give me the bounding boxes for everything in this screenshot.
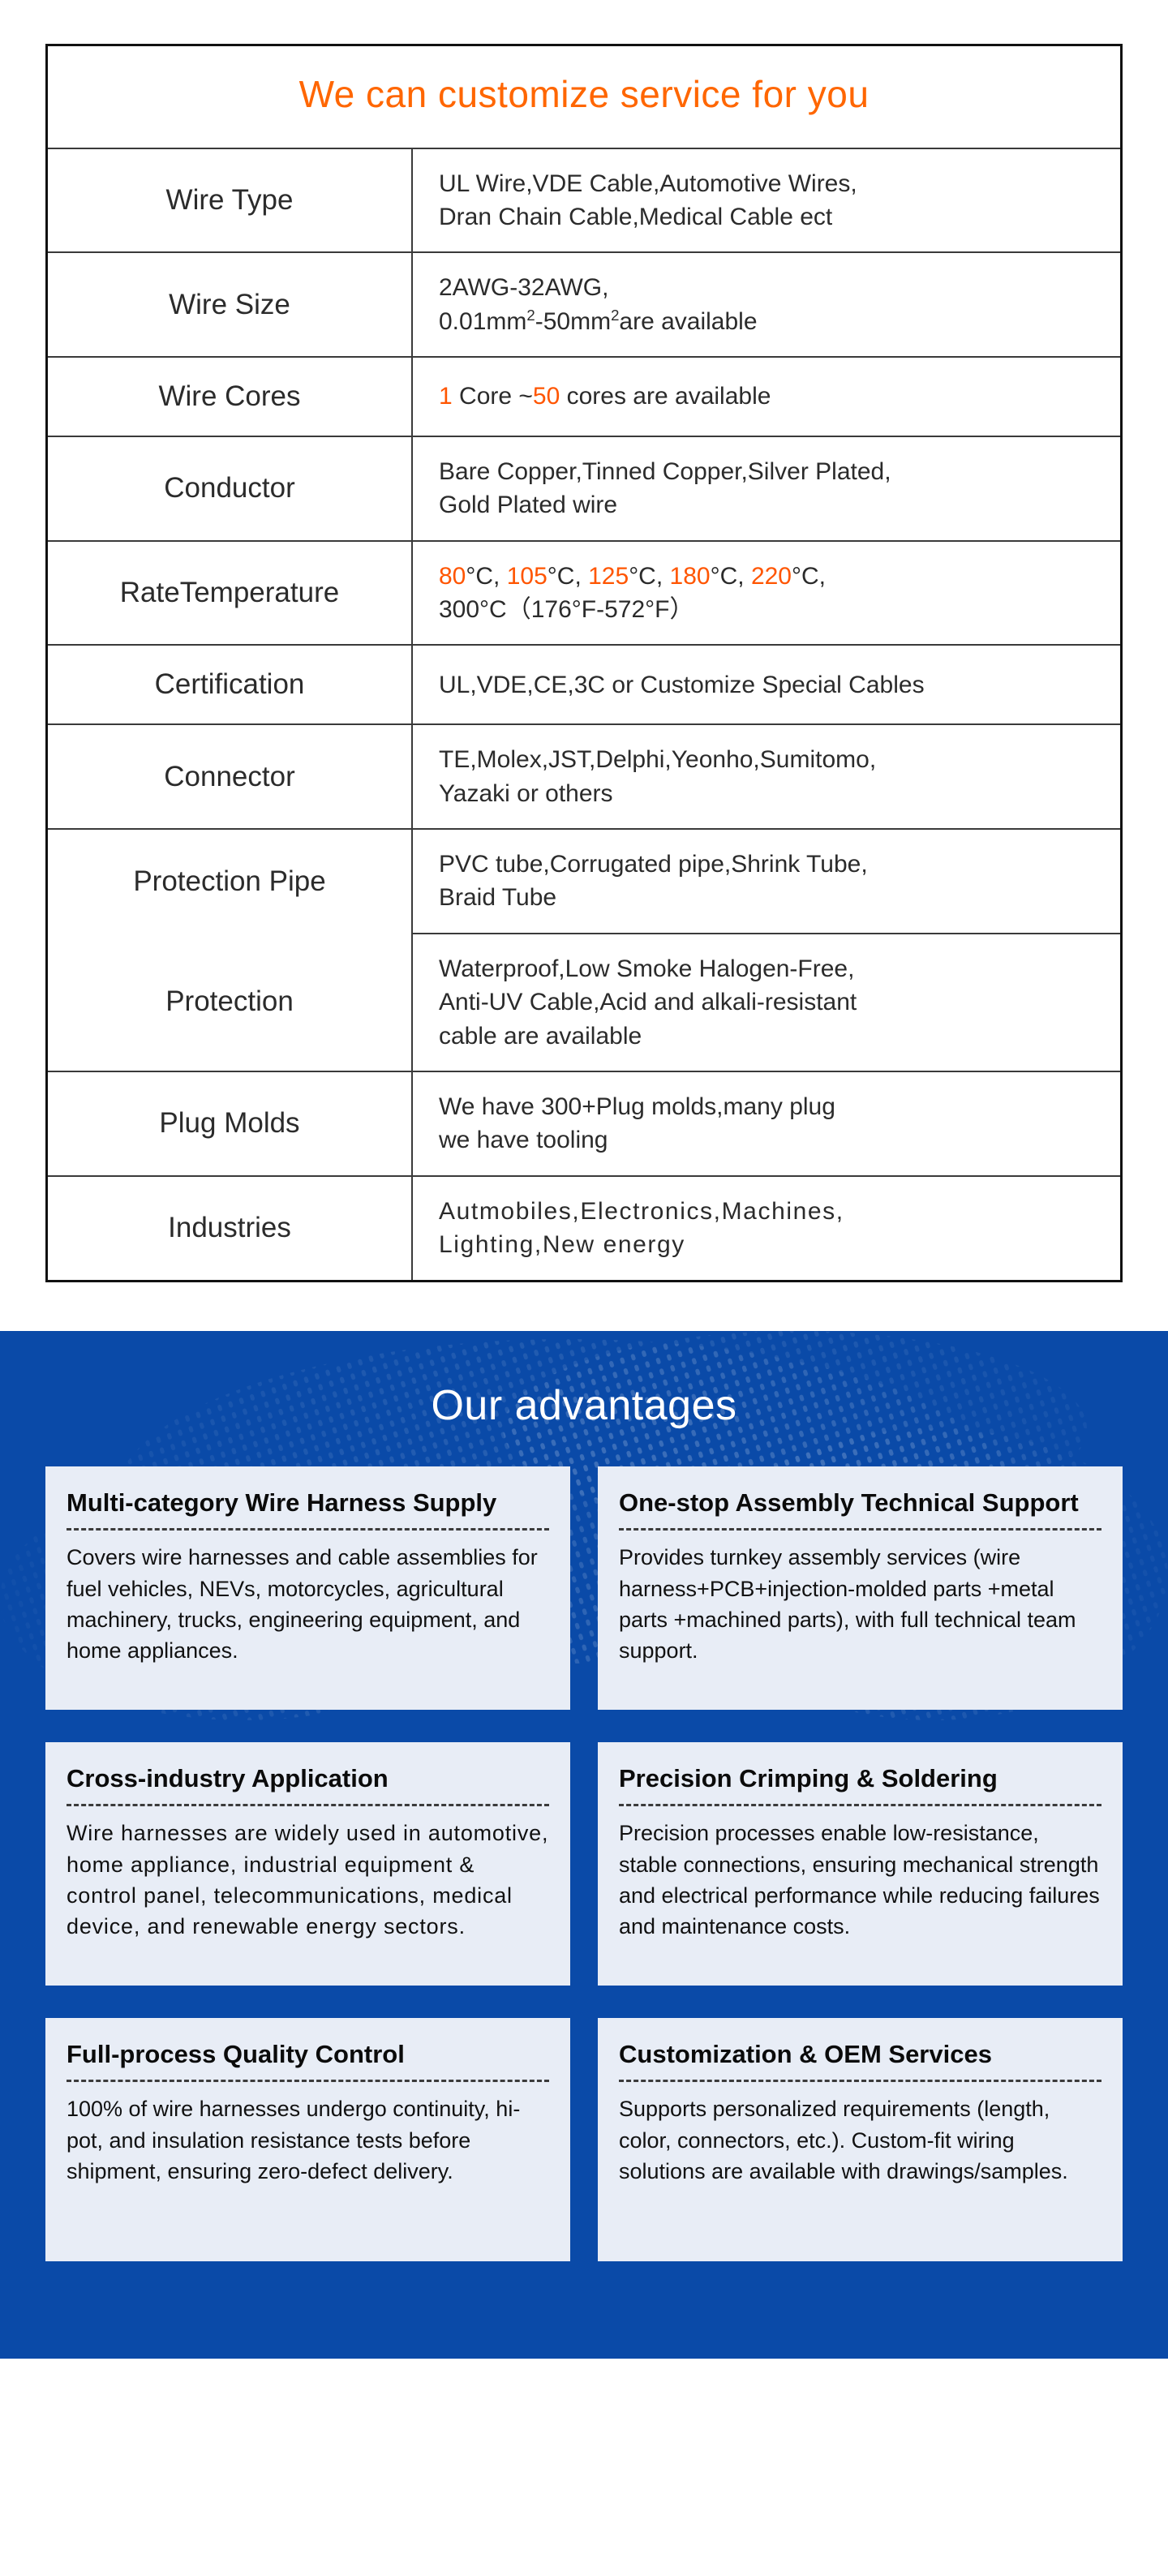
advantage-card: One-stop Assembly Technical Support Prov… [598,1466,1123,1710]
table-row: RateTemperature 80°C, 105°C, 125°C, 180°… [47,541,1122,646]
spec-key: Wire Size [47,252,413,357]
spec-key: Plug Molds [47,1071,413,1176]
spec-value: Waterproof,Low Smoke Halogen-Free,Anti-U… [412,934,1122,1071]
spec-table-title-row: We can customize service for you [47,45,1122,148]
advantage-card: Cross-industry Application Wire harnesse… [45,1742,570,1986]
table-row: Wire Cores 1 Core ~50 cores are availabl… [47,357,1122,436]
advantages-grid: Multi-category Wire Harness Supply Cover… [0,1466,1168,2261]
table-row: Wire Type UL Wire,VDE Cable,Automotive W… [47,148,1122,253]
dashed-divider [67,1528,549,1531]
spec-value: UL,VDE,CE,3C or Customize Special Cables [412,645,1122,724]
spec-value-line: UL,VDE,CE,3C or Customize Special Cables [439,672,925,698]
spec-value: 2AWG-32AWG,0.01mm2-50mm2are available [412,252,1122,357]
spec-value-line: Autmobiles,Electronics,Machines,Lighting… [439,1198,844,1258]
spec-value: TE,Molex,JST,Delphi,Yeonho,Sumitomo,Yaza… [412,724,1122,829]
table-row: Conductor Bare Copper,Tinned Copper,Silv… [47,436,1122,541]
spec-key: Protection [47,934,413,1071]
spec-value-line: We have 300+Plug molds,many plugwe have … [439,1093,835,1153]
advantage-card: Customization & OEM Services Supports pe… [598,2018,1123,2261]
spec-value-line: UL Wire,VDE Cable,Automotive Wires,Dran … [439,170,857,230]
advantage-card-body: Wire harnesses are widely used in automo… [67,1818,549,1942]
advantage-card-title: Customization & OEM Services [619,2039,1101,2080]
advantage-card-body: Covers wire harnesses and cable assembli… [67,1542,549,1666]
dashed-divider [67,2080,549,2082]
table-row: Connector TE,Molex,JST,Delphi,Yeonho,Sum… [47,724,1122,829]
spec-value: 1 Core ~50 cores are available [412,357,1122,436]
spec-value: Autmobiles,Electronics,Machines,Lighting… [412,1176,1122,1281]
table-row: Certification UL,VDE,CE,3C or Customize … [47,645,1122,724]
table-row: Protection Pipe PVC tube,Corrugated pipe… [47,829,1122,934]
spec-value-line: 1 Core ~50 cores are available [439,383,771,410]
advantage-card-title: Full-process Quality Control [67,2039,549,2080]
advantage-card-body: 100% of wire harnesses undergo continuit… [67,2093,549,2187]
advantage-card: Precision Crimping & Soldering Precision… [598,1742,1123,1986]
advantage-card-body: Precision processes enable low-resistanc… [619,1818,1101,1942]
spec-key: Protection Pipe [47,829,413,934]
advantage-card: Full-process Quality Control 100% of wir… [45,2018,570,2261]
advantage-card-title: Cross-industry Application [67,1763,549,1805]
advantage-card-title: One-stop Assembly Technical Support [619,1488,1101,1529]
spec-key: Certification [47,645,413,724]
dashed-divider [619,2080,1101,2082]
spec-value: UL Wire,VDE Cable,Automotive Wires,Dran … [412,148,1122,253]
advantage-card-title: Precision Crimping & Soldering [619,1763,1101,1805]
table-row: Wire Size 2AWG-32AWG,0.01mm2-50mm2are av… [47,252,1122,357]
spec-value-line: PVC tube,Corrugated pipe,Shrink Tube,Bra… [439,851,868,911]
advantage-card-body: Supports personalized requirements (leng… [619,2093,1101,2187]
page-title: We can customize service for you [56,74,1112,115]
dashed-divider [619,1804,1101,1806]
dashed-divider [67,1804,549,1806]
advantages-title: Our advantages [0,1367,1168,1466]
spec-value-line: TE,Molex,JST,Delphi,Yeonho,Sumitomo,Yaza… [439,746,876,806]
spec-key: Conductor [47,436,413,541]
spec-value: 80°C, 105°C, 125°C, 180°C, 220°C,300°C（1… [412,541,1122,646]
advantage-card-title: Multi-category Wire Harness Supply [67,1488,549,1529]
spec-value-line: 80°C, 105°C, 125°C, 180°C, 220°C,300°C（1… [439,563,826,623]
table-row: Protection Waterproof,Low Smoke Halogen-… [47,934,1122,1071]
advantage-card-body: Provides turnkey assembly services (wire… [619,1542,1101,1666]
spec-value-line: Waterproof,Low Smoke Halogen-Free,Anti-U… [439,955,857,1050]
spec-key: Industries [47,1176,413,1281]
table-row: Industries Autmobiles,Electronics,Machin… [47,1176,1122,1281]
advantages-section: Our advantages Multi-category Wire Harne… [0,1331,1168,2359]
spec-value-line: 2AWG-32AWG,0.01mm2-50mm2are available [439,274,758,334]
spec-value: We have 300+Plug molds,many plugwe have … [412,1071,1122,1176]
spec-key: Wire Type [47,148,413,253]
table-row: Plug Molds We have 300+Plug molds,many p… [47,1071,1122,1176]
spec-key: RateTemperature [47,541,413,646]
spec-key: Connector [47,724,413,829]
spec-value-line: Bare Copper,Tinned Copper,Silver Plated,… [439,458,891,518]
dashed-divider [619,1528,1101,1531]
spec-table: We can customize service for you Wire Ty… [45,44,1123,1282]
customization-spec-section: We can customize service for you Wire Ty… [0,0,1168,1282]
spec-key: Wire Cores [47,357,413,436]
spec-value: Bare Copper,Tinned Copper,Silver Plated,… [412,436,1122,541]
spec-value: PVC tube,Corrugated pipe,Shrink Tube,Bra… [412,829,1122,934]
advantage-card: Multi-category Wire Harness Supply Cover… [45,1466,570,1710]
